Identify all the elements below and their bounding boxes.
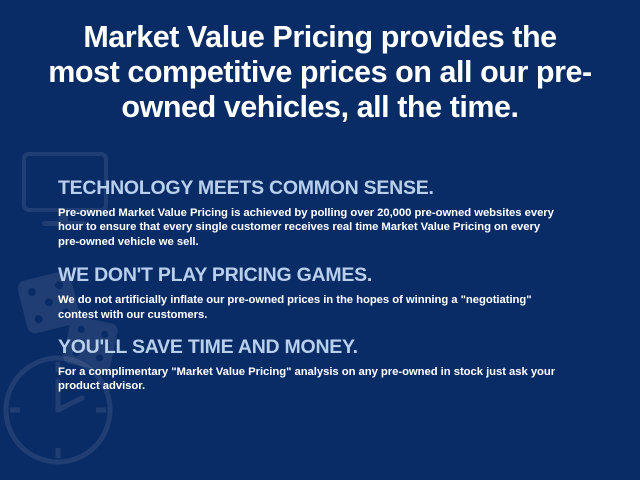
section-body: We do not artificially inflate our pre-o… (58, 293, 558, 322)
section-body: For a complimentary "Market Value Pricin… (58, 365, 558, 394)
section-body: Pre-owned Market Value Pricing is achiev… (58, 206, 558, 249)
content-sections: TECHNOLOGY MEETS COMMON SENSE. Pre-owned… (58, 176, 578, 405)
section-save-time-money: YOU'LL SAVE TIME AND MONEY. For a compli… (58, 335, 578, 394)
section-pricing-games: WE DON'T PLAY PRICING GAMES. We do not a… (58, 263, 578, 322)
section-heading: WE DON'T PLAY PRICING GAMES. (58, 263, 578, 288)
section-heading: YOU'LL SAVE TIME AND MONEY. (58, 335, 578, 360)
section-heading: TECHNOLOGY MEETS COMMON SENSE. (58, 176, 578, 201)
page-title: Market Value Pricing provides the most c… (0, 20, 640, 125)
section-technology: TECHNOLOGY MEETS COMMON SENSE. Pre-owned… (58, 176, 578, 249)
slide-canvas: Market Value Pricing provides the most c… (0, 0, 640, 480)
